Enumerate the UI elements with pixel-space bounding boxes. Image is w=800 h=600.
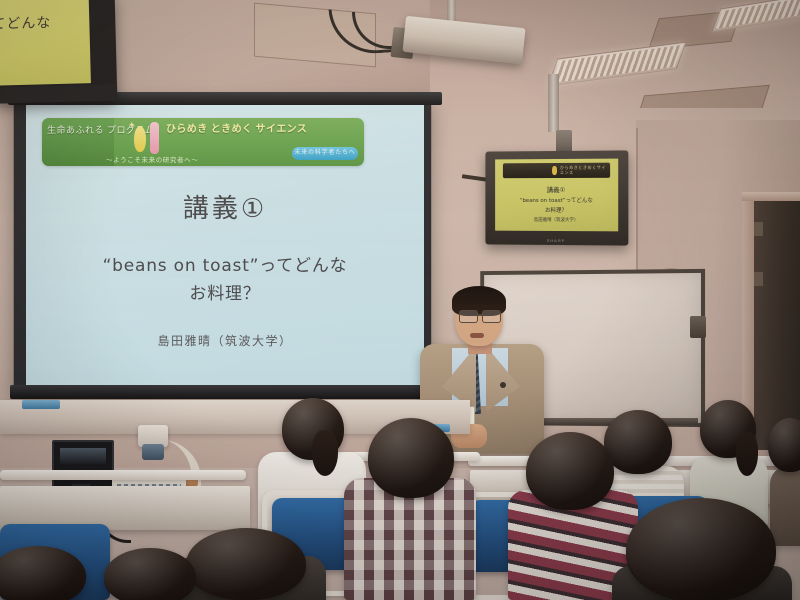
door-hinge	[754, 272, 763, 286]
wall-monitor: ひらめきときめくサイエンス 講義① “beans on toast”ってどんな …	[485, 150, 628, 245]
student-head	[626, 498, 776, 600]
banner-title: ひらめき ときめく サイエンス	[166, 124, 307, 135]
screen-bottom-bar	[10, 385, 440, 399]
wall-monitor-author: 島田雅晴（筑波大学）	[495, 217, 618, 223]
wall-monitor-banner: ひらめきときめくサイエンス	[503, 163, 610, 179]
slide-author: 島田雅晴（筑波大学）	[26, 332, 424, 349]
projection-screen: 生命あふれる プログラム ✦ ひらめき ときめく サイエンス ～ようこそ未来の研…	[26, 104, 424, 386]
eyeglasses-icon	[459, 310, 478, 323]
student-head	[604, 410, 672, 474]
whiteboard-eraser	[22, 400, 60, 409]
door-hinge	[754, 222, 763, 236]
door-header	[742, 192, 800, 201]
bench-monitor	[52, 440, 114, 488]
bench-rail	[0, 470, 246, 480]
wall-outlet-plate	[690, 316, 706, 338]
student-torso	[770, 466, 800, 546]
banner-mascot-icon	[150, 122, 159, 154]
overhead-monitor-left-bezel	[0, 84, 117, 103]
wall-monitor-brand: SHARP	[485, 238, 628, 244]
overhead-monitor-left: てどんな ？	[0, 0, 117, 104]
slide-banner: 生命あふれる プログラム ✦ ひらめき ときめく サイエンス ～ようこそ未来の研…	[42, 118, 364, 166]
presenter-jacket-button	[500, 382, 506, 388]
presenter-mouth	[470, 333, 484, 338]
overhead-monitor-left-line2: ？	[0, 53, 2, 69]
student-ponytail	[312, 430, 338, 476]
wall-monitor-question-line2: お料理？	[495, 207, 618, 215]
slide-heading: 講義①	[26, 188, 424, 225]
overhead-monitor-left-screen: てどんな ？	[0, 0, 91, 86]
banner-mascot-icon	[134, 126, 146, 152]
student-head	[186, 528, 306, 600]
lecture-hall-photo: 生命あふれる プログラム ✦ ひらめき ときめく サイエンス ～ようこそ未来の研…	[0, 0, 800, 600]
banner-subtitle: ～ようこそ未来の研究者へ～	[106, 154, 198, 164]
slide-question-line1: “beans on toast”ってどんな	[26, 252, 424, 280]
wall-monitor-question-line1: “beans on toast”ってどんな	[495, 197, 618, 205]
wall-monitor-heading: 講義①	[495, 184, 618, 194]
slide-question-line2: お料理？	[26, 280, 424, 308]
student-head	[526, 432, 614, 510]
banner-mascot-icon	[552, 166, 557, 175]
wall-monitor-screen: ひらめきときめくサイエンス 講義① “beans on toast”ってどんな …	[495, 159, 618, 232]
banner-pill-label: 未来の科学者たちへ	[292, 147, 358, 160]
overhead-monitor-left-line1: てどんな	[0, 12, 52, 34]
student-ponytail	[736, 432, 758, 476]
student-head	[768, 418, 800, 472]
eyeglasses-bridge	[476, 314, 482, 316]
monitor-mount-pole	[548, 74, 559, 132]
wall-monitor-banner-text: ひらめきときめくサイエンス	[560, 165, 610, 175]
document-camera-lens	[142, 444, 164, 460]
student-head	[368, 418, 454, 498]
student-head	[104, 548, 196, 600]
sparkle-icon: ✦	[128, 120, 136, 131]
eyeglasses-icon	[482, 310, 501, 323]
